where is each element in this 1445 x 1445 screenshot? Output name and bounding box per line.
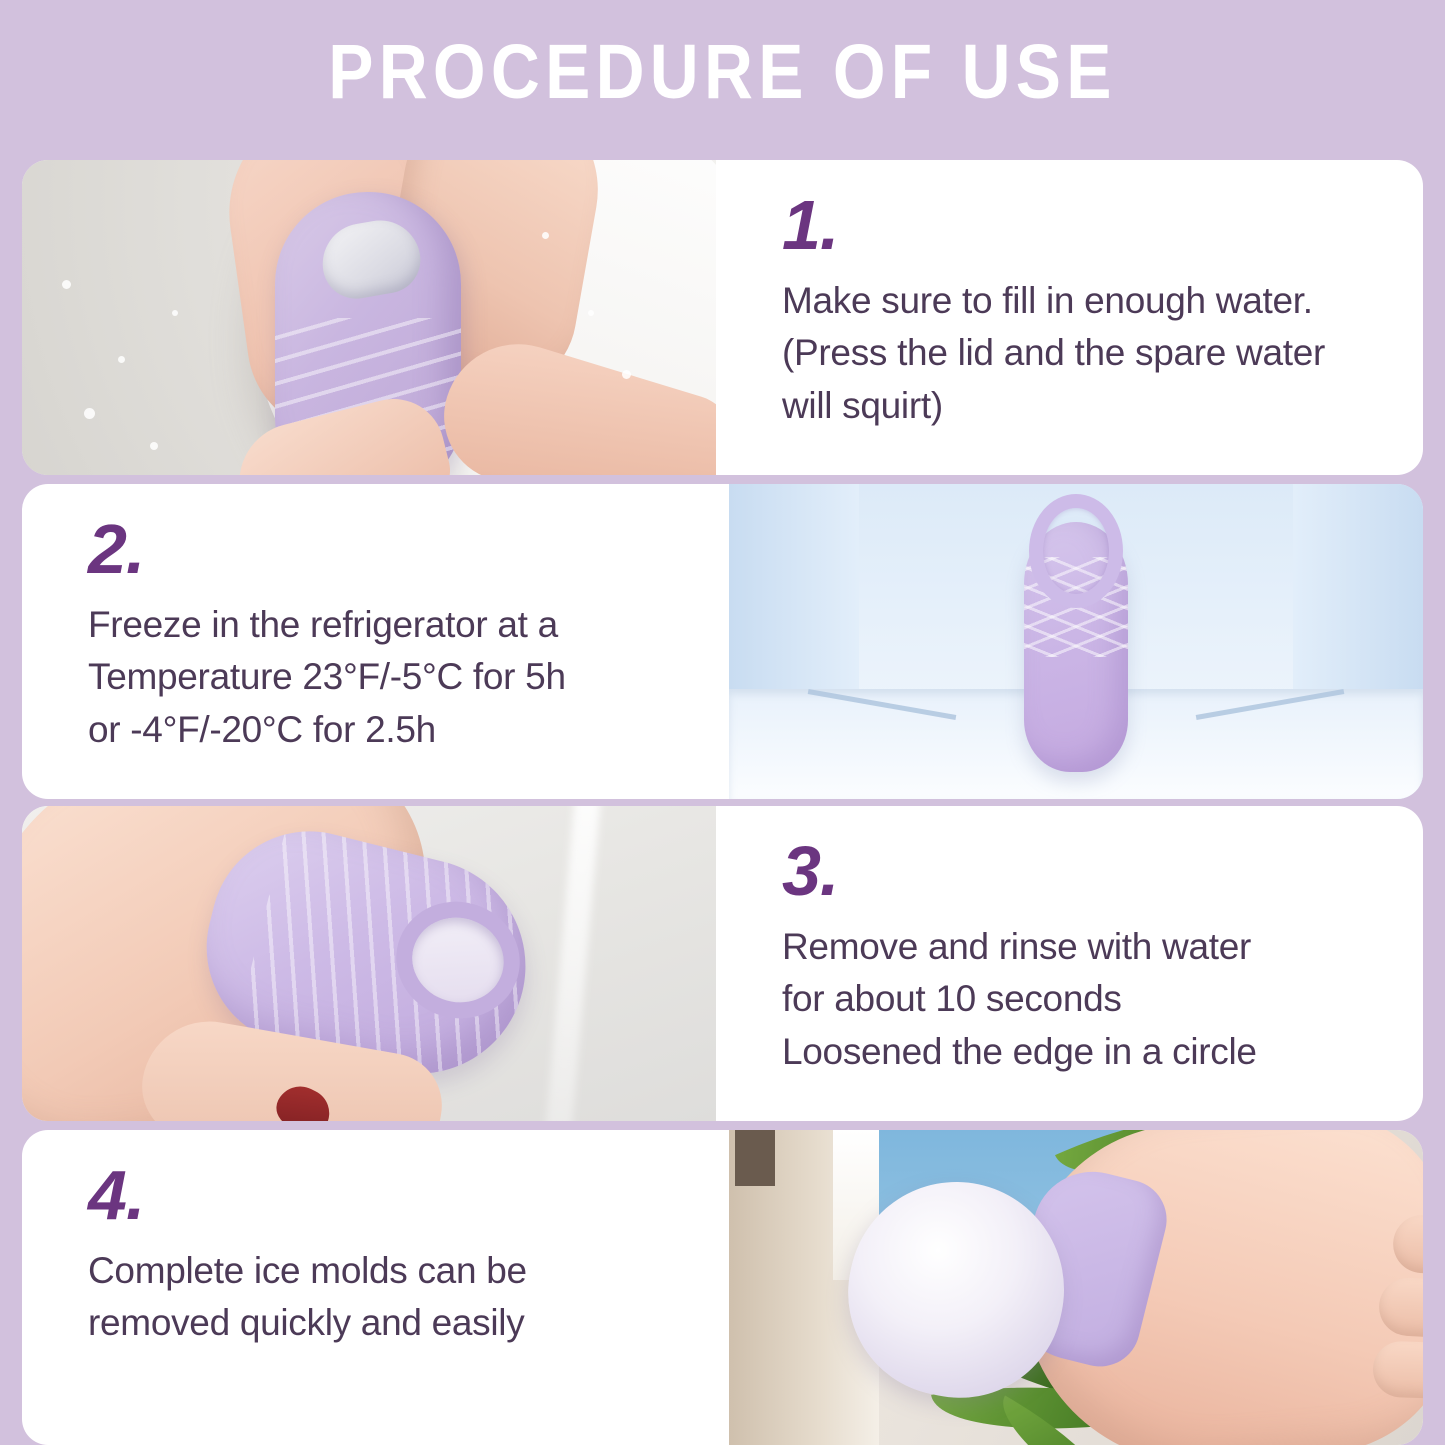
step-row-3: 3. Remove and rinse with water for about… — [22, 806, 1423, 1121]
scene-demold — [729, 1130, 1423, 1445]
step-3-textblock: 3. Remove and rinse with water for about… — [782, 838, 1383, 1078]
water-droplets — [22, 160, 716, 475]
step-1-photo — [22, 160, 716, 475]
step-2-text-card: 2. Freeze in the refrigerator at a Tempe… — [22, 484, 729, 799]
step-4-text-card: 4. Complete ice molds can be removed qui… — [22, 1130, 729, 1445]
step-4-photo — [729, 1130, 1423, 1445]
scene-rinse — [22, 806, 716, 1121]
step-2-textblock: 2. Freeze in the refrigerator at a Tempe… — [88, 516, 689, 756]
step-1-text-card: 1. Make sure to fill in enough water. (P… — [716, 160, 1423, 475]
step-4-number: 4. — [88, 1162, 689, 1229]
step-4-textblock: 4. Complete ice molds can be removed qui… — [88, 1162, 689, 1350]
step-2-body: Freeze in the refrigerator at a Temperat… — [88, 599, 689, 757]
dark-shelf-edge — [735, 1130, 775, 1186]
step-2-number: 2. — [88, 516, 689, 583]
step-row-1: 1. Make sure to fill in enough water. (P… — [22, 160, 1423, 475]
scene-freezer — [729, 484, 1423, 799]
step-4-body: Complete ice molds can be removed quickl… — [88, 1245, 689, 1350]
step-1-textblock: 1. Make sure to fill in enough water. (P… — [782, 192, 1383, 432]
step-1-body: Make sure to fill in enough water. (Pres… — [782, 275, 1383, 433]
step-row-2: 2. Freeze in the refrigerator at a Tempe… — [22, 484, 1423, 799]
scene-fill-water — [22, 160, 716, 475]
step-2-photo — [729, 484, 1423, 799]
step-row-4: 4. Complete ice molds can be removed qui… — [22, 1130, 1423, 1445]
step-3-body: Remove and rinse with water for about 10… — [782, 921, 1383, 1079]
page-title: PROCEDURE OF USE — [87, 34, 1359, 111]
step-1-number: 1. — [782, 192, 1383, 259]
step-3-number: 3. — [782, 838, 1383, 905]
step-3-text-card: 3. Remove and rinse with water for about… — [716, 806, 1423, 1121]
infographic-page: PROCEDURE OF USE — [0, 0, 1445, 1445]
step-3-photo — [22, 806, 716, 1121]
mold-loop-handle — [1029, 494, 1123, 608]
